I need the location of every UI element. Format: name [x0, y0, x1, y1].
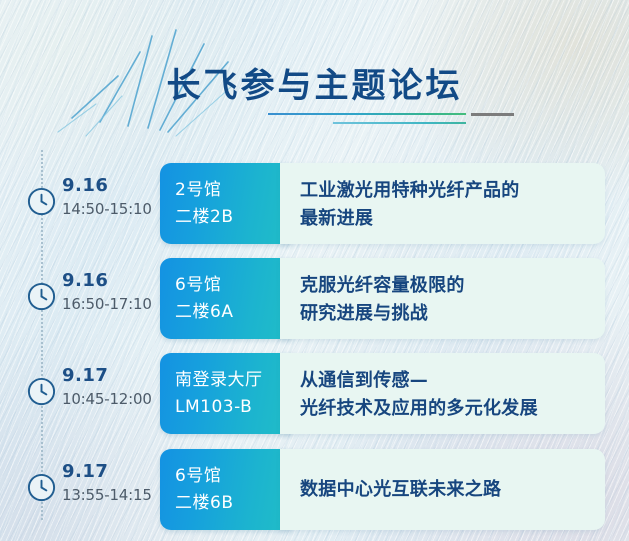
session-date: 9.17 [62, 461, 158, 483]
session-datetime: 9.17 10:45-12:00 [62, 365, 158, 410]
session-time: 16:50-17:10 [62, 294, 158, 315]
session-topic[interactable]: 数据中心光互联未来之路 [280, 449, 605, 530]
session-datetime: 9.17 13:55-14:15 [62, 461, 158, 506]
topic-line-1: 工业激光用特种光纤产品的 [300, 177, 605, 205]
topic-line-2: 光纤技术及应用的多元化发展 [300, 395, 605, 423]
topic-line-1: 克服光纤容量极限的 [300, 272, 605, 300]
venue-room: LM103-B [175, 394, 292, 421]
session-date: 9.16 [62, 175, 158, 197]
session-topic[interactable]: 克服光纤容量极限的 研究进展与挑战 [280, 258, 605, 339]
session-row[interactable]: 9.17 13:55-14:15 6号馆 二楼6B 数据中心光互联未来之路 [0, 441, 629, 539]
clock-icon [26, 186, 57, 217]
venue-hall: 6号馆 [175, 272, 292, 299]
session-row[interactable]: 9.17 10:45-12:00 南登录大厅 LM103-B 从通信到传感— 光… [0, 345, 629, 443]
session-venue[interactable]: 6号馆 二楼6B [160, 449, 292, 530]
venue-hall: 2号馆 [175, 177, 292, 204]
topic-line-2: 最新进展 [300, 205, 605, 233]
session-date: 9.16 [62, 270, 158, 292]
clock-icon [26, 472, 57, 503]
venue-hall: 南登录大厅 [175, 367, 292, 394]
session-venue[interactable]: 6号馆 二楼6A [160, 258, 292, 339]
session-row[interactable]: 9.16 16:50-17:10 6号馆 二楼6A 克服光纤容量极限的 研究进展… [0, 250, 629, 348]
venue-room: 二楼6A [175, 299, 292, 326]
session-time: 13:55-14:15 [62, 485, 158, 506]
session-topic[interactable]: 从通信到传感— 光纤技术及应用的多元化发展 [280, 353, 605, 434]
topic-line-2: 研究进展与挑战 [300, 300, 605, 328]
topic-line-1: 从通信到传感— [300, 367, 605, 395]
session-datetime: 9.16 16:50-17:10 [62, 270, 158, 315]
venue-hall: 6号馆 [175, 463, 292, 490]
clock-icon [26, 281, 57, 312]
session-topic[interactable]: 工业激光用特种光纤产品的 最新进展 [280, 163, 605, 244]
session-date: 9.17 [62, 365, 158, 387]
venue-room: 二楼2B [175, 204, 292, 231]
clock-icon [26, 376, 57, 407]
topic-line-1: 数据中心光互联未来之路 [300, 476, 605, 504]
session-time: 10:45-12:00 [62, 389, 158, 410]
session-time: 14:50-15:10 [62, 199, 158, 220]
session-venue[interactable]: 南登录大厅 LM103-B [160, 353, 292, 434]
venue-room: 二楼6B [175, 490, 292, 517]
session-datetime: 9.16 14:50-15:10 [62, 175, 158, 220]
session-list: 9.16 14:50-15:10 2号馆 二楼2B 工业激光用特种光纤产品的 最… [0, 0, 629, 541]
poster-canvas: 长飞参与主题论坛 9.16 14:50-15:10 2号馆 二楼2B 工业激光用… [0, 0, 629, 541]
session-venue[interactable]: 2号馆 二楼2B [160, 163, 292, 244]
session-row[interactable]: 9.16 14:50-15:10 2号馆 二楼2B 工业激光用特种光纤产品的 最… [0, 155, 629, 253]
